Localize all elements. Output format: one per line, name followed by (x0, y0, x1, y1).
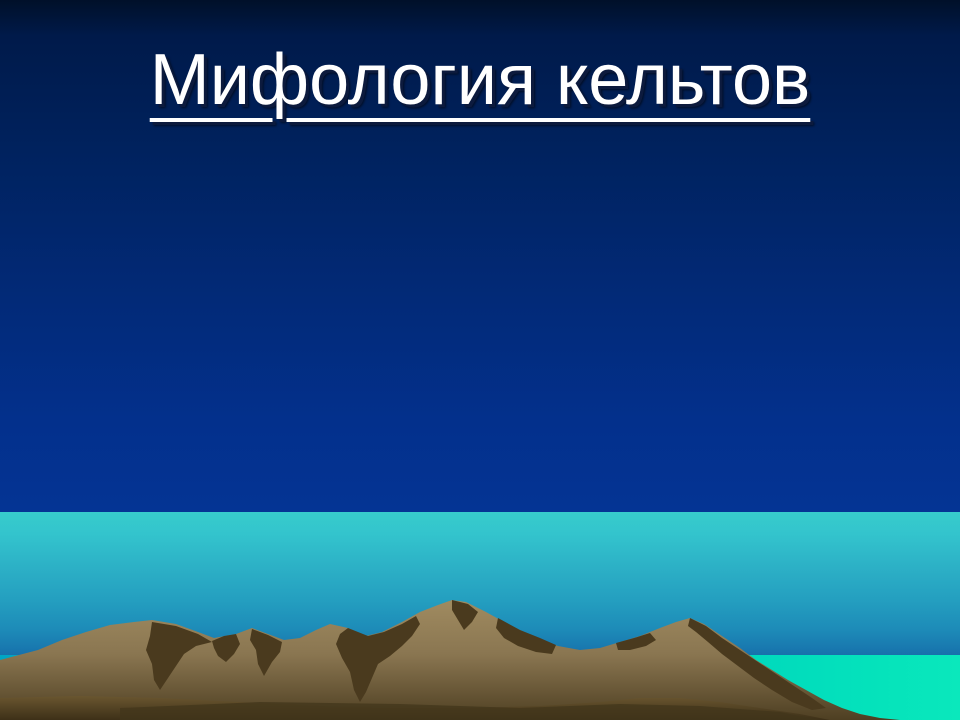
mountain-range (0, 512, 960, 720)
sky-background (0, 0, 960, 512)
presentation-slide: Мифология кельтов (0, 0, 960, 720)
